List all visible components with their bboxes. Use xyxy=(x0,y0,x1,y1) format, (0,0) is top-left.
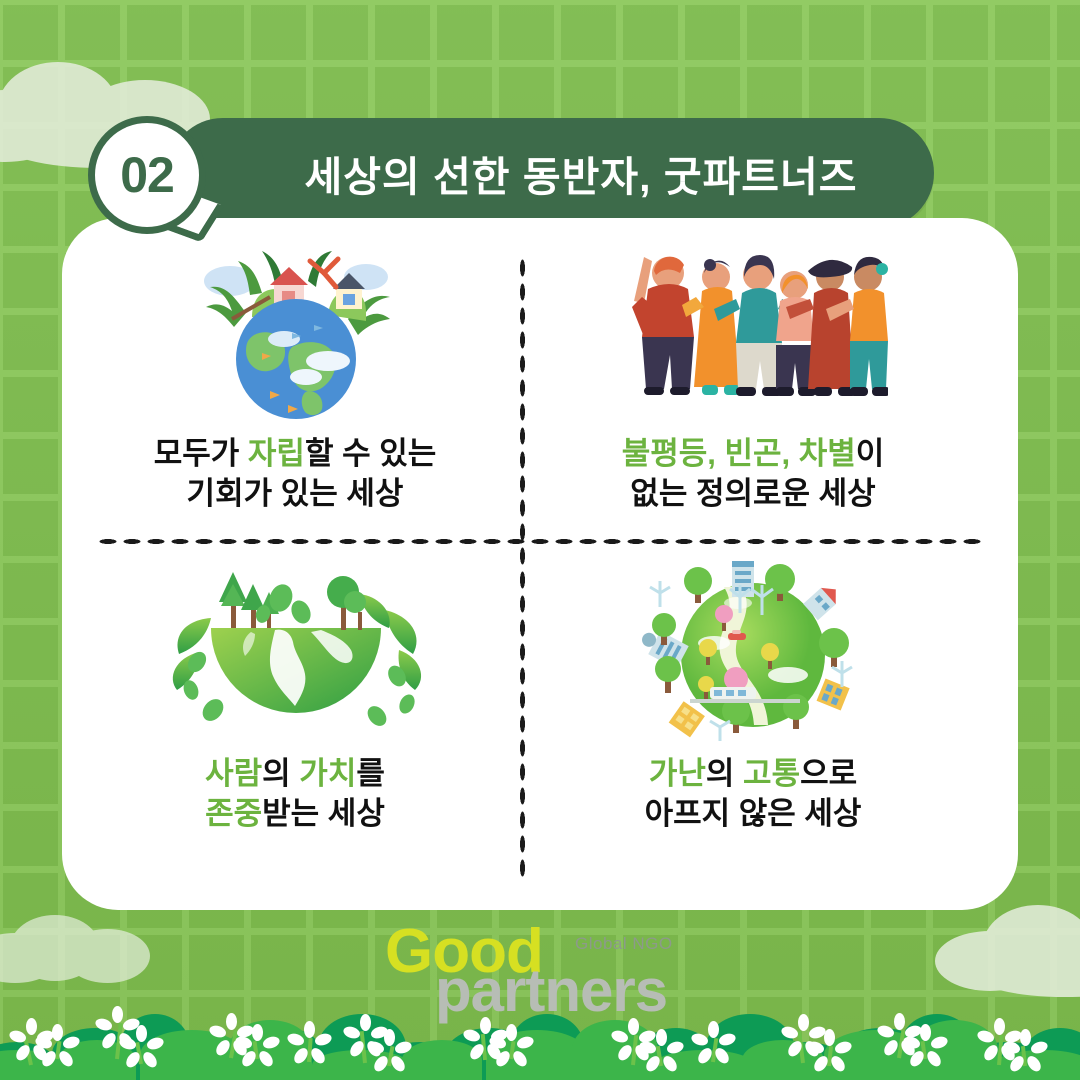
flower-icon xyxy=(128,1026,154,1064)
caption-text: 의 xyxy=(262,756,299,791)
page-title: 세상의 선한 동반자, 굿파트너즈 xyxy=(245,143,858,203)
infographic-canvas: 세상의 선한 동반자, 굿파트너즈 02 xyxy=(0,0,1080,1080)
people-embracing-icon xyxy=(618,240,888,420)
flower-icon xyxy=(1012,1030,1038,1066)
quadrant-caption: 불평등, 빈곤, 차별이 없는 정의로운 세상 xyxy=(622,434,885,513)
step-number-badge: 02 xyxy=(88,116,206,234)
logo-partners-text: partners xyxy=(435,956,667,1025)
green-planet-city-icon xyxy=(628,552,878,752)
caption-highlight: 사람 xyxy=(205,756,262,791)
flower-icon xyxy=(790,1015,816,1063)
flower-icon xyxy=(912,1025,938,1059)
divider-horizontal xyxy=(96,538,986,545)
brand-logo: Good partners Global NGO xyxy=(0,916,1080,1006)
quadrant-caption: 모두가 자립할 수 있는 기회가 있는 세상 xyxy=(154,434,437,513)
caption-text: 받는 세상 xyxy=(262,796,385,831)
caption-text: 없는 정의로운 세상 xyxy=(622,474,885,514)
caption-text: 할 수 있는 xyxy=(305,436,436,471)
caption-highlight: 고통 xyxy=(743,756,800,791)
flower-icon xyxy=(700,1022,726,1062)
caption-text: 의 xyxy=(706,756,743,791)
caption-highlight: 가난 xyxy=(649,756,706,791)
caption-text: 모두가 xyxy=(154,436,248,471)
caption-text: 이 xyxy=(856,436,885,471)
caption-highlight: 가치 xyxy=(299,756,356,791)
step-number-label: 02 xyxy=(120,146,174,204)
flower-icon xyxy=(376,1030,402,1066)
caption-text: 기회가 있는 세상 xyxy=(154,474,437,514)
caption-highlight: 자립 xyxy=(248,436,305,471)
flower-icon xyxy=(296,1022,322,1062)
caption-text: 으로 xyxy=(800,756,857,791)
caption-highlight: 존중 xyxy=(205,796,262,831)
quadrant-caption: 가난의 고통으로 아프지 않은 세상 xyxy=(645,754,862,833)
quadrant-caption: 사람의 가치를 존중받는 세상 xyxy=(205,754,385,833)
flower-icon xyxy=(244,1025,270,1059)
flower-icon xyxy=(104,1007,130,1059)
flower-icon xyxy=(498,1025,524,1059)
quadrant-poverty-free: 가난의 고통으로 아프지 않은 세상 xyxy=(528,552,978,882)
bush-shape xyxy=(402,1040,482,1080)
flower-icon xyxy=(44,1025,70,1059)
green-half-globe-icon xyxy=(155,552,435,752)
header-bar: 세상의 선한 동반자, 굿파트너즈 xyxy=(168,118,934,228)
logo-tagline: Global NGO xyxy=(575,934,673,954)
divider-vertical xyxy=(519,256,526,882)
caption-text: 아프지 않은 세상 xyxy=(645,794,862,834)
caption-text: 를 xyxy=(356,756,385,791)
flower-icon xyxy=(816,1030,842,1066)
earth-globe-icon xyxy=(188,240,403,420)
flower-icon xyxy=(352,1015,378,1063)
quadrant-self-reliance: 모두가 자립할 수 있는 기회가 있는 세상 xyxy=(70,240,520,532)
flower-icon xyxy=(648,1030,674,1066)
quadrant-justice: 불평등, 빈곤, 차별이 없는 정의로운 세상 xyxy=(528,240,978,532)
quadrant-human-dignity: 사람의 가치를 존중받는 세상 xyxy=(70,552,520,882)
caption-highlight: 불평등, 빈곤, 차별 xyxy=(622,436,856,471)
